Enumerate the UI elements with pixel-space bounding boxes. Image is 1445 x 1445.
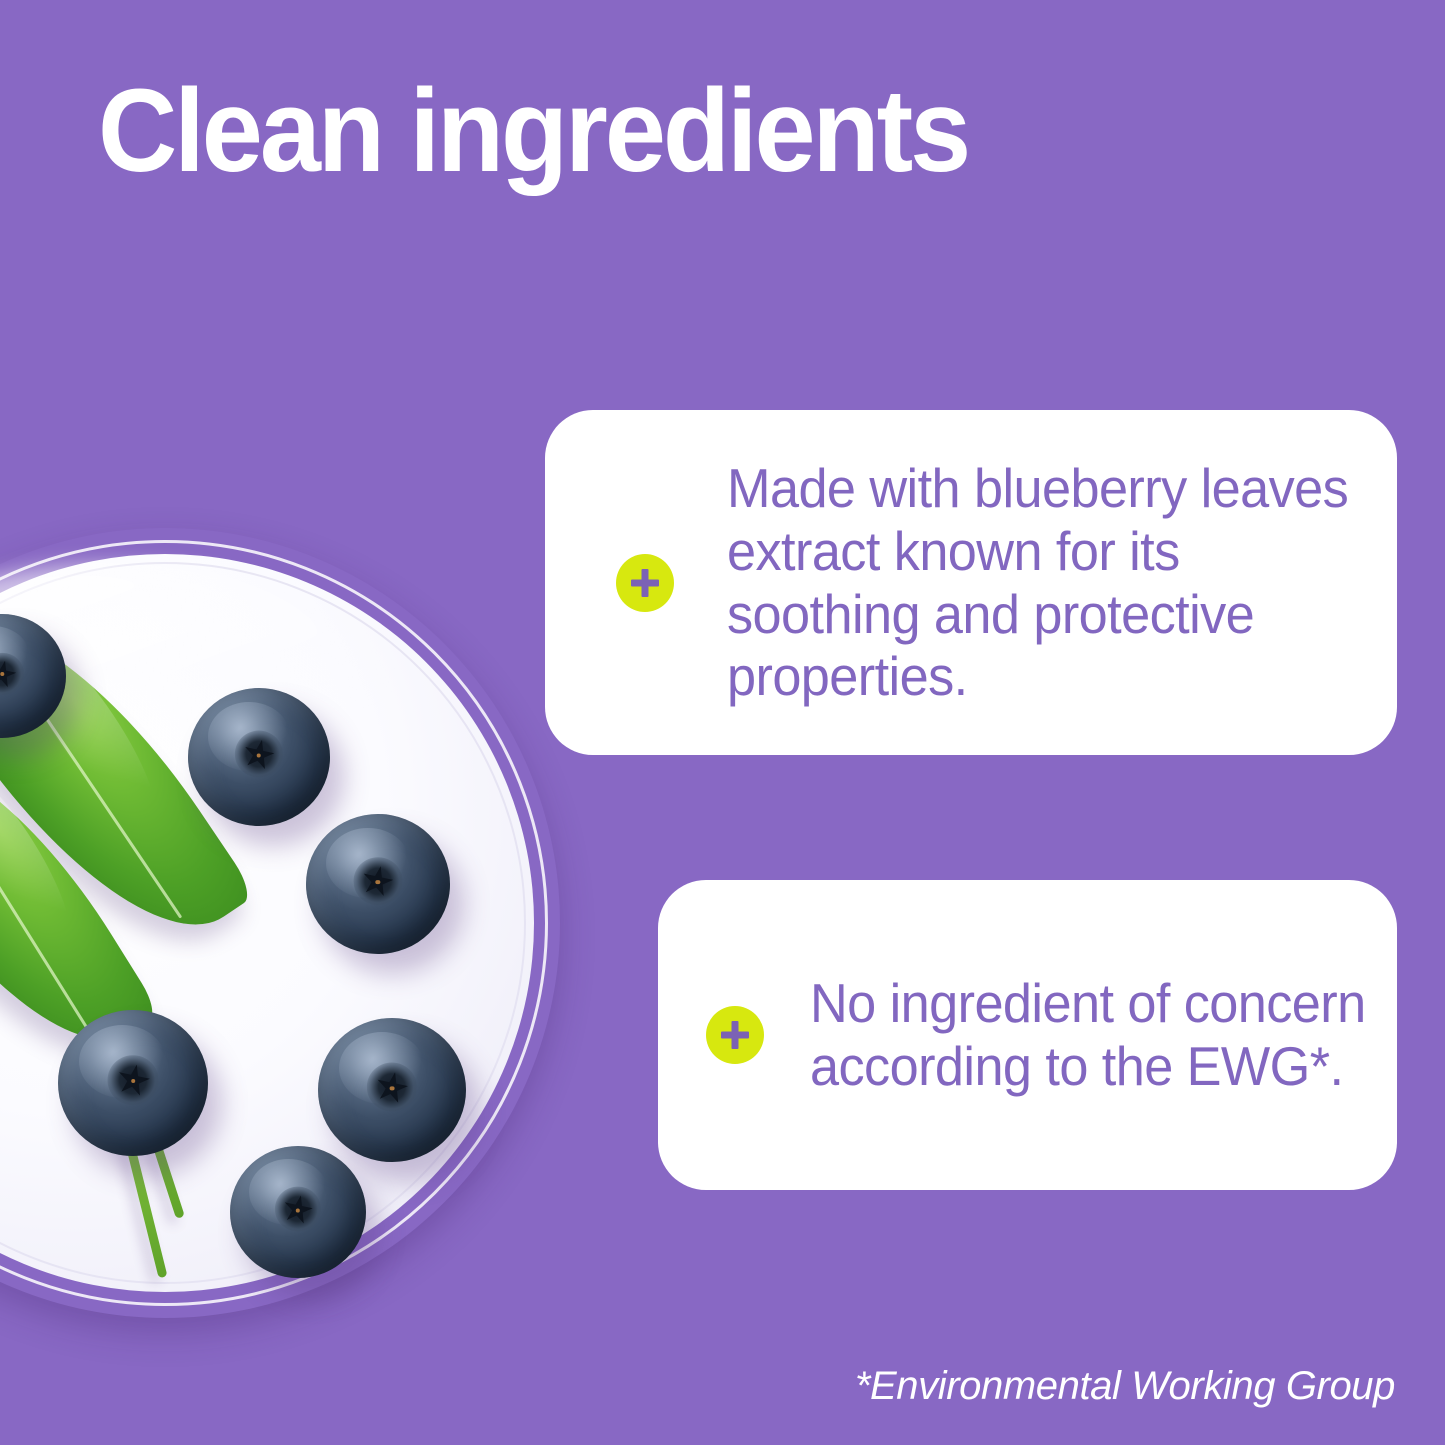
berry-calyx bbox=[235, 731, 283, 778]
blueberry bbox=[230, 1146, 366, 1278]
feature-card-text: No ingredient of concern according to th… bbox=[810, 972, 1368, 1097]
page-title: Clean ingredients bbox=[98, 72, 1121, 190]
berry-calyx bbox=[354, 857, 403, 905]
berry-calyx bbox=[275, 1187, 321, 1232]
plus-glyph bbox=[721, 1021, 749, 1049]
plus-icon bbox=[706, 1006, 764, 1064]
blueberry bbox=[58, 1010, 208, 1156]
plus-glyph bbox=[631, 569, 659, 597]
berry-calyx bbox=[108, 1055, 159, 1105]
feature-card-text: Made with blueberry leaves extract known… bbox=[727, 457, 1364, 708]
blueberry bbox=[188, 688, 330, 826]
blueberry bbox=[318, 1018, 466, 1162]
blueberry bbox=[306, 814, 450, 954]
feature-card-ewg: No ingredient of concern according to th… bbox=[658, 880, 1397, 1190]
footnote-ewg-definition: *Environmental Working Group bbox=[855, 1364, 1395, 1409]
feature-card-ingredient-extract: Made with blueberry leaves extract known… bbox=[545, 410, 1397, 755]
product-ingredient-photo bbox=[0, 528, 560, 1318]
berry-calyx bbox=[367, 1063, 417, 1112]
plus-icon bbox=[616, 554, 674, 612]
marketing-graphic: Clean ingredients bbox=[0, 0, 1445, 1445]
